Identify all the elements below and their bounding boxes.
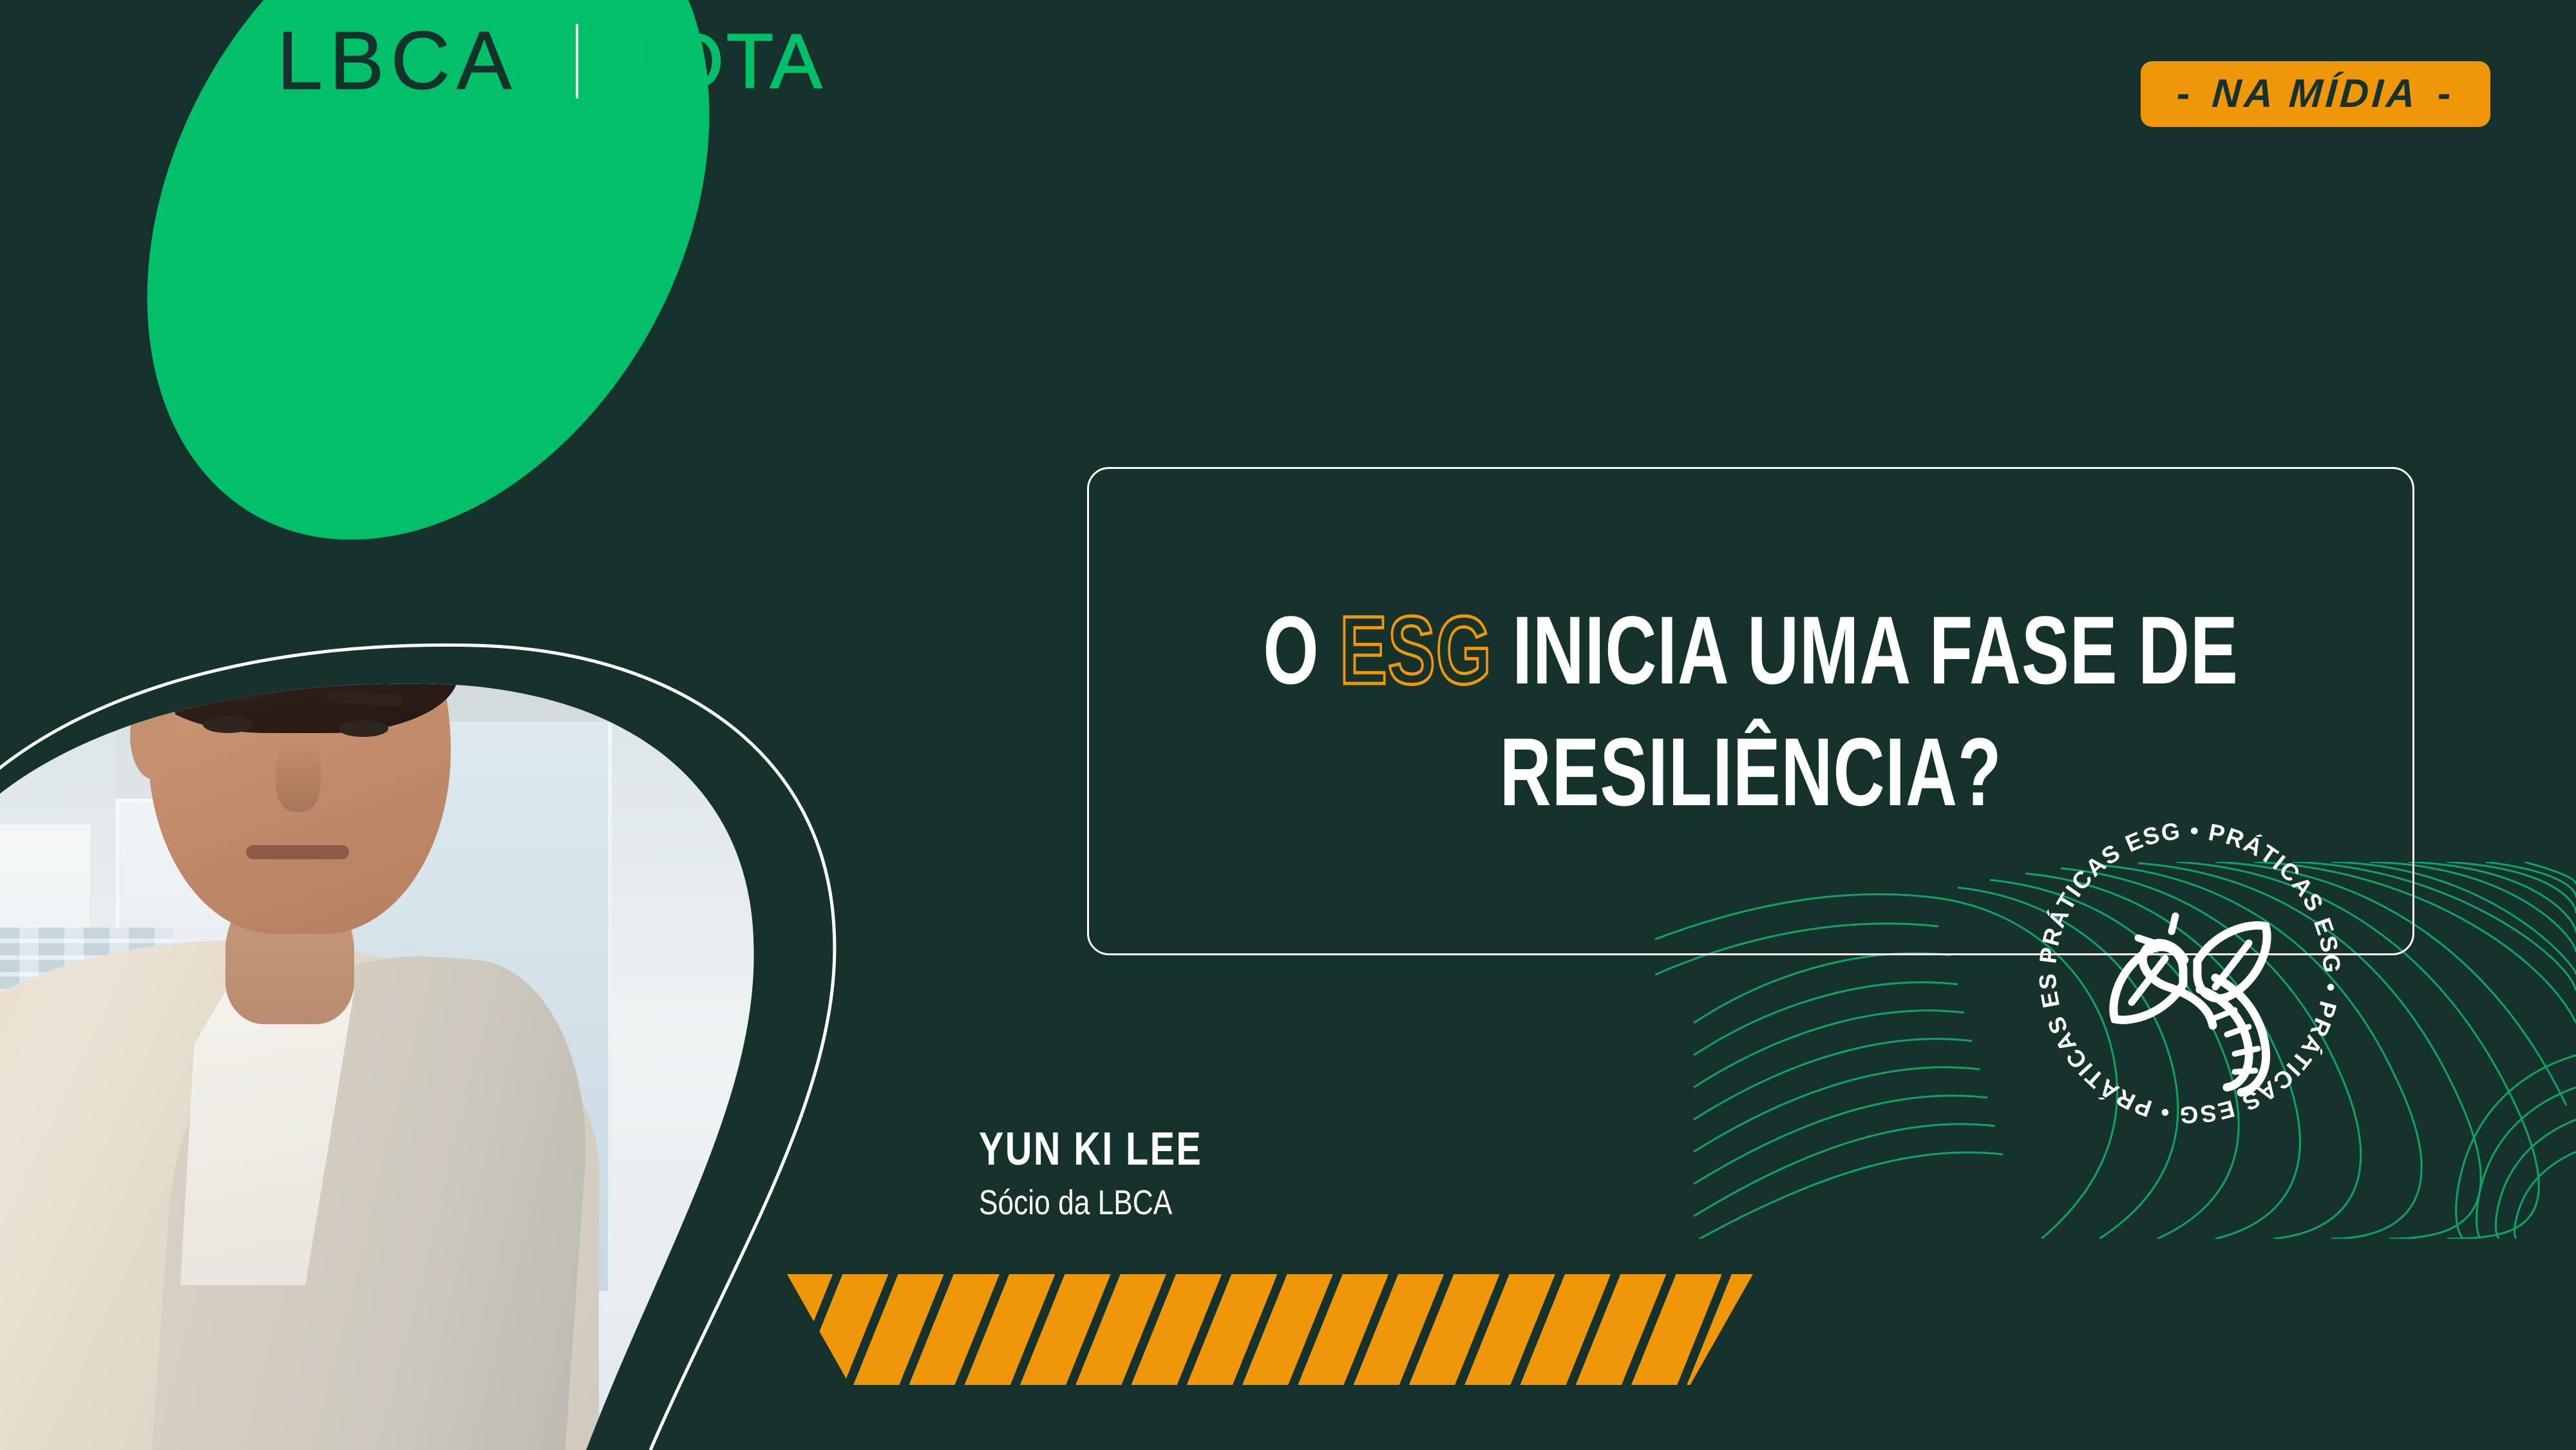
lbca-wordmark: LBCA [277, 20, 518, 102]
speaker-photo [0, 438, 837, 1450]
headline-highlight-esg: ESG [1340, 596, 1492, 704]
headline-part-2: INICIA UMA FASE DE [1512, 596, 2238, 704]
promo-banner: LBCA JOTA - NA MÍDIA - [0, 0, 2576, 1450]
brand-divider [576, 24, 578, 99]
headline-part-1: O [1263, 596, 1319, 704]
jota-wordmark: JOTA [622, 23, 824, 100]
na-midia-badge[interactable]: - NA MÍDIA - [2141, 61, 2490, 127]
photo-mask-shape [0, 438, 837, 1450]
speaker-info: YUN KI LEE Sócio da LBCA [979, 1124, 1258, 1223]
eye-right [338, 720, 388, 737]
eye-left [203, 716, 253, 733]
head [148, 535, 451, 934]
praticas-esg-seal: PRÁTICAS ESG • PRÁTICAS ESG • PRÁTICAS E… [2022, 805, 2357, 1140]
leaf-dna-icon [2114, 916, 2267, 1092]
brand-lockup: LBCA JOTA [277, 19, 824, 103]
page-title: O ESG INICIA UMA FASE DE RESILIÊNCIA? [1261, 589, 2240, 833]
diagonal-stripe-band [787, 1274, 1753, 1385]
badge-left-dash: - [2175, 74, 2194, 114]
badge-label: NA MÍDIA [2211, 74, 2420, 114]
person-figure [0, 438, 599, 1450]
ear [130, 696, 175, 779]
speaker-name: YUN KI LEE [979, 1124, 1202, 1175]
nose [276, 741, 321, 812]
speaker-role: Sócio da LBCA [979, 1184, 1208, 1222]
mouth [246, 845, 349, 859]
headline-line-2: RESILIÊNCIA? [1500, 718, 2002, 826]
hair [140, 520, 459, 733]
badge-right-dash: - [2436, 74, 2456, 114]
